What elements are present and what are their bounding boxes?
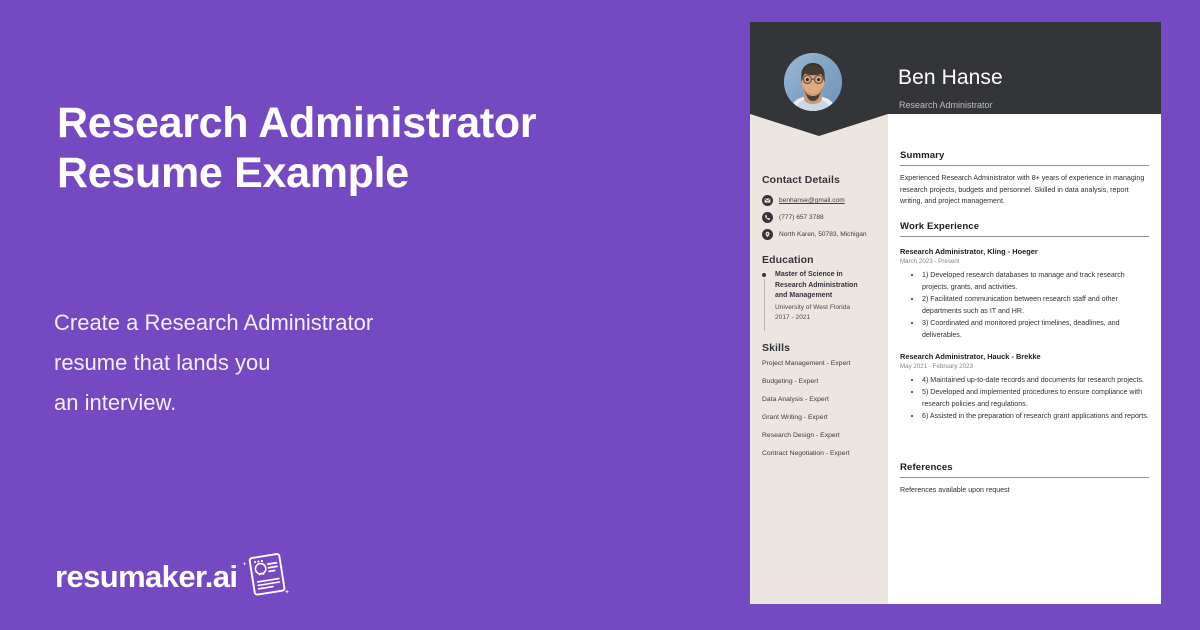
job-bullet: 1) Developed research databases to manag… <box>922 270 1149 293</box>
header-chevron-notch <box>750 114 888 136</box>
document-icon <box>240 548 292 605</box>
job-entry: Research Administrator, Kling - Hoeger M… <box>900 246 1149 342</box>
work-experience-section: Work Experience Research Administrator, … <box>900 221 1149 424</box>
education-degree-line-3: and Management <box>775 291 882 302</box>
promo-subtitle: Create a Research Administrator resume t… <box>54 303 534 423</box>
brand-logo-text: resumaker.ai <box>55 561 237 592</box>
job-bullet: 4) Maintained up-to-date records and doc… <box>922 375 1149 387</box>
headline-line-2: Resume Example <box>57 148 657 198</box>
section-divider <box>900 477 1149 478</box>
section-divider <box>900 165 1149 166</box>
contact-row-phone[interactable]: (777) 657 3788 <box>762 212 824 223</box>
page-title: Research Administrator Resume Example <box>57 98 657 198</box>
job-bullet: 5) Developed and implemented procedures … <box>922 387 1149 410</box>
job-dates: March 2023 - Present <box>900 257 1149 267</box>
contact-email-text[interactable]: benhanse@gmail.com <box>779 196 845 205</box>
resume-candidate-name: Ben Hanse <box>898 66 1003 90</box>
education-heading: Education <box>762 254 814 266</box>
promo-left-panel: Research Administrator Resume Example Cr… <box>0 0 748 630</box>
job-entry: Research Administrator, Hauck - Brekke M… <box>900 351 1149 423</box>
education-degree-line-2: Research Administration <box>775 281 882 292</box>
brand-logo: resumaker.ai <box>55 548 292 605</box>
summary-heading: Summary <box>900 150 1149 161</box>
job-title: Research Administrator, Kling - Hoeger <box>900 246 1149 257</box>
references-heading: References <box>900 462 1149 473</box>
skill-item: Data Analysis - Expert <box>762 395 884 404</box>
bullet-dot-icon <box>762 273 766 277</box>
skill-item: Project Management - Expert <box>762 359 884 368</box>
summary-text: Experienced Research Administrator with … <box>900 173 1149 208</box>
job-dates: May 2021 - February 2023 <box>900 362 1149 372</box>
subtitle-line-1: Create a Research Administrator <box>54 303 534 343</box>
education-school: University of West Florida <box>775 303 882 313</box>
skill-item: Contract Negotiation - Expert <box>762 449 884 458</box>
resume-preview-card[interactable]: Ben Hanse Research Administrator Contact… <box>750 22 1161 604</box>
job-bullet: 3) Coordinated and monitored project tim… <box>922 318 1149 341</box>
subtitle-line-2: resume that lands you <box>54 343 534 383</box>
phone-icon <box>762 212 773 223</box>
contact-address-text[interactable]: North Karen, 50783, Michigan <box>779 230 867 239</box>
skills-list: Project Management - Expert Budgeting - … <box>762 359 884 467</box>
headline-line-1: Research Administrator <box>57 98 657 148</box>
references-text: References available upon request <box>900 485 1149 497</box>
work-experience-heading: Work Experience <box>900 221 1149 232</box>
contact-details-heading: Contact Details <box>762 174 840 186</box>
contact-phone-text[interactable]: (777) 657 3788 <box>779 213 824 222</box>
avatar <box>784 53 842 111</box>
education-entry: Master of Science in Research Administra… <box>762 270 882 323</box>
envelope-icon <box>762 195 773 206</box>
skill-item: Grant Writing - Expert <box>762 413 884 422</box>
skill-item: Budgeting - Expert <box>762 377 884 386</box>
summary-section: Summary Experienced Research Administrat… <box>900 150 1149 208</box>
job-bullet: 2) Facilitated communication between res… <box>922 294 1149 317</box>
promo-banner: Research Administrator Resume Example Cr… <box>0 0 1200 630</box>
resume-candidate-role: Research Administrator <box>899 100 993 110</box>
job-bullet-list: 1) Developed research databases to manag… <box>900 270 1149 342</box>
job-title: Research Administrator, Hauck - Brekke <box>900 351 1149 362</box>
job-bullet: 6) Assisted in the preparation of resear… <box>922 411 1149 423</box>
contact-row-email[interactable]: benhanse@gmail.com <box>762 195 845 206</box>
timeline-line <box>764 279 765 331</box>
section-divider <box>900 236 1149 237</box>
skills-heading: Skills <box>762 342 790 354</box>
education-dates: 2017 - 2021 <box>775 313 882 323</box>
education-degree-line-1: Master of Science in <box>775 270 882 281</box>
job-bullet-list: 4) Maintained up-to-date records and doc… <box>900 375 1149 423</box>
subtitle-line-3: an interview. <box>54 383 534 423</box>
references-section: References References available upon req… <box>900 462 1149 497</box>
skill-item: Research Design - Expert <box>762 431 884 440</box>
contact-row-address[interactable]: North Karen, 50783, Michigan <box>762 229 867 240</box>
location-pin-icon <box>762 229 773 240</box>
